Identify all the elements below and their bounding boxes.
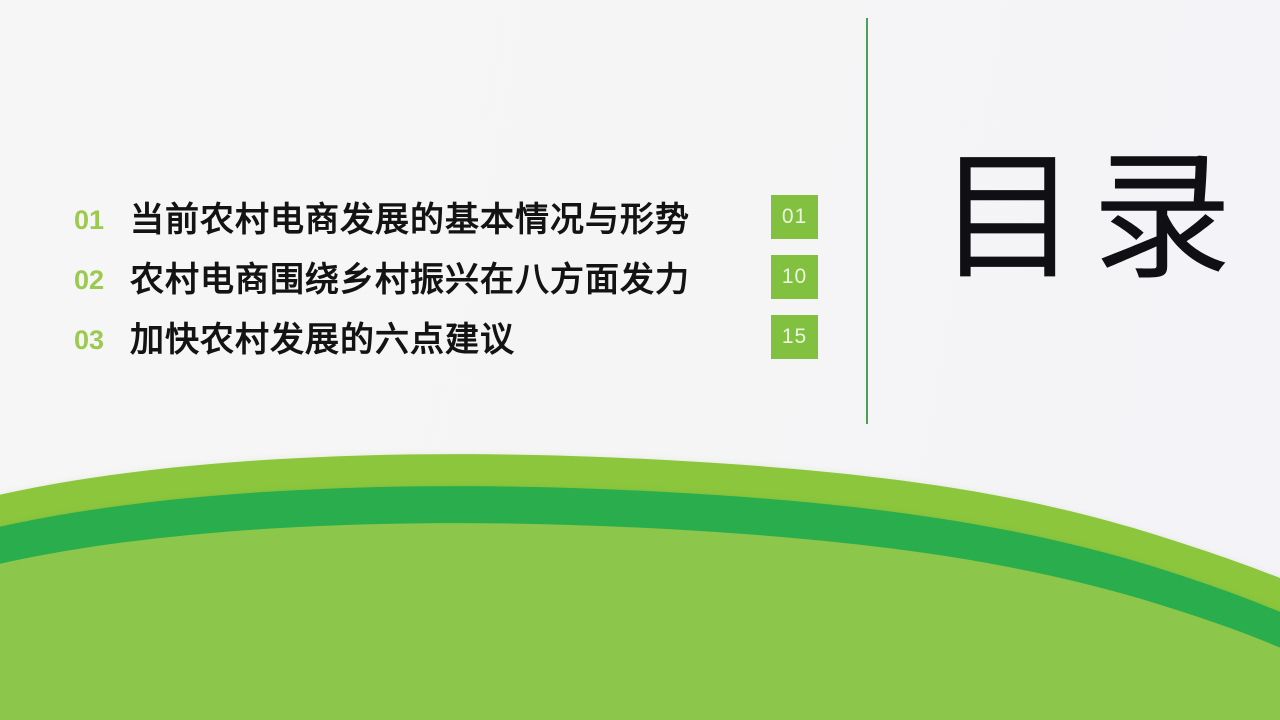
- toc-item-page-badge: 01: [771, 195, 818, 239]
- vertical-divider: [866, 18, 868, 424]
- table-of-contents: 01 当前农村电商发展的基本情况与形势 01 02 农村电商围绕乡村振兴在八方面…: [74, 190, 834, 370]
- toc-item-title: 加快农村发展的六点建议: [130, 323, 834, 357]
- toc-item-3[interactable]: 03 加快农村发展的六点建议 15: [74, 310, 834, 370]
- toc-item-index: 01: [74, 207, 130, 234]
- presentation-slide: 01 当前农村电商发展的基本情况与形势 01 02 农村电商围绕乡村振兴在八方面…: [0, 0, 1280, 720]
- toc-item-index: 02: [74, 267, 130, 294]
- toc-item-page-badge: 10: [771, 255, 818, 299]
- wave-fill: [0, 523, 1280, 720]
- toc-item-title: 当前农村电商发展的基本情况与形势: [130, 203, 834, 237]
- toc-item-index: 03: [74, 327, 130, 354]
- page-title: 目录: [938, 148, 1246, 288]
- toc-item-title: 农村电商围绕乡村振兴在八方面发力: [130, 263, 834, 297]
- wave-band-light: [0, 454, 1280, 640]
- toc-item-page-badge: 15: [771, 315, 818, 359]
- toc-item-2[interactable]: 02 农村电商围绕乡村振兴在八方面发力 10: [74, 250, 834, 310]
- toc-item-1[interactable]: 01 当前农村电商发展的基本情况与形势 01: [74, 190, 834, 250]
- wave-band-emerald: [0, 486, 1280, 672]
